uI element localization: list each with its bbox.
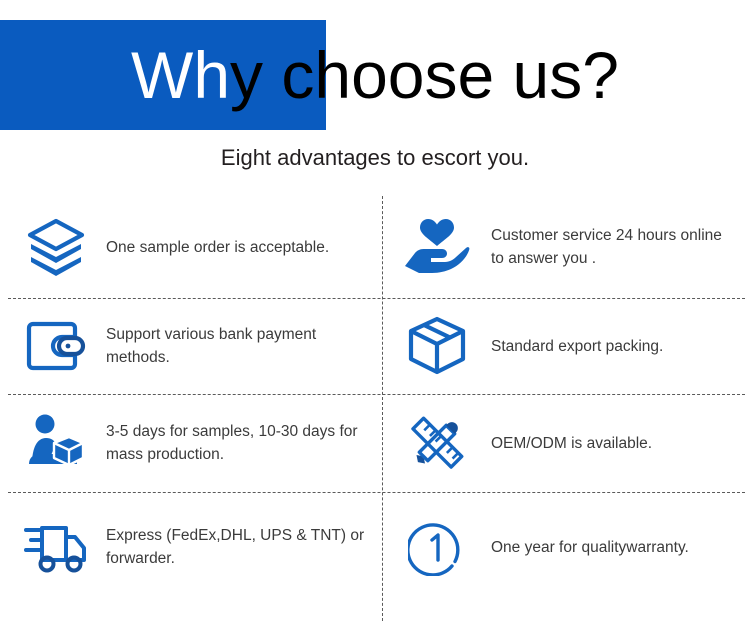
advantage-item-lead-time: 3-5 days for samples, 10-30 days for mas… xyxy=(8,394,380,492)
advantage-item-export-packing: Standard export packing. xyxy=(385,298,745,394)
advantage-text: OEM/ODM is available. xyxy=(475,432,745,455)
advantage-text: Express (FedEx,DHL, UPS & TNT) or forwar… xyxy=(94,524,380,570)
advantage-item-shipping: Express (FedEx,DHL, UPS & TNT) or forwar… xyxy=(8,492,380,602)
advantage-text: Customer service 24 hours online to answ… xyxy=(475,224,745,270)
layers-stack-icon xyxy=(18,211,94,283)
advantage-item-customer-service: Customer service 24 hours online to answ… xyxy=(385,196,745,298)
package-box-icon xyxy=(399,310,475,382)
advantage-item-oem-odm: OEM/ODM is available. xyxy=(385,394,745,492)
advantage-item-warranty: One year for qualitywarranty. xyxy=(385,492,745,602)
ruler-pencil-icon xyxy=(399,407,475,479)
page-header: Why choose us? Eight advantages to escor… xyxy=(0,0,750,196)
page-title-rest: y choose us? xyxy=(230,38,619,112)
delivery-person-box-icon xyxy=(18,407,94,479)
advantage-text: One sample order is acceptable. xyxy=(94,236,380,259)
page-title: Why choose us? xyxy=(0,20,750,130)
advantages-grid: One sample order is acceptable. Customer… xyxy=(0,196,750,621)
advantage-item-sample-order: One sample order is acceptable. xyxy=(8,196,380,298)
hand-heart-icon xyxy=(399,211,475,283)
advantage-text: Standard export packing. xyxy=(475,335,745,358)
page-subtitle: Eight advantages to escort you. xyxy=(0,145,750,171)
wallet-icon xyxy=(18,310,94,382)
column-divider xyxy=(382,196,383,621)
advantage-text: One year for qualitywarranty. xyxy=(475,536,745,559)
advantage-text: Support various bank payment methods. xyxy=(94,323,380,369)
advantage-item-bank-payment: Support various bank payment methods. xyxy=(8,298,380,394)
circle-one-icon xyxy=(399,511,475,583)
page-title-highlight: Wh xyxy=(131,38,230,112)
advantage-text: 3-5 days for samples, 10-30 days for mas… xyxy=(94,420,380,466)
delivery-truck-icon xyxy=(18,511,94,583)
